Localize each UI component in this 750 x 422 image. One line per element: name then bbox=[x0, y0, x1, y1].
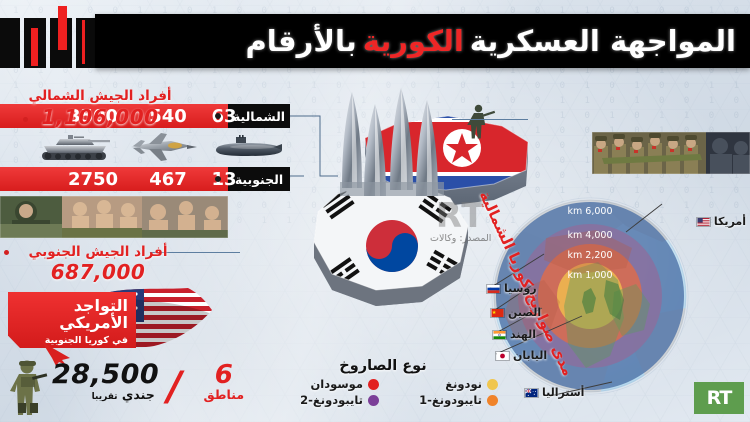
missile-type-legend: نوع الصاروخ نودونغ موسودان تايبودونغ-1 ت… bbox=[268, 358, 498, 416]
south-army-personnel: أفراد الجيش الجنوبي 687,000 bbox=[8, 244, 188, 284]
legend-label-nodong: نودونغ bbox=[445, 377, 482, 391]
north-subs-value: 63 bbox=[200, 106, 248, 127]
country-label-usa: أمريكا bbox=[696, 215, 746, 228]
north-army-value: 1,106,000 bbox=[10, 105, 190, 129]
bases-value: 6 bbox=[188, 362, 260, 388]
legend-label-musudan: موسودان bbox=[310, 377, 363, 391]
rt-logo-text: RT bbox=[707, 387, 732, 409]
country-name-china: الصين bbox=[508, 306, 541, 319]
soldier-figure-icon bbox=[8, 359, 48, 415]
north-korean-soldiers-photo bbox=[592, 132, 750, 174]
legend-item-nodong: نودونغ bbox=[387, 377, 498, 391]
troops-value: 28,500 bbox=[52, 361, 159, 389]
title-part-one: المواجهة العسكرية bbox=[470, 24, 736, 58]
troops-approx: تقريبا bbox=[92, 392, 118, 402]
legend-items-grid: نودونغ موسودان تايبودونغ-1 تايبودونغ-2 bbox=[268, 377, 498, 407]
legend-dot-taepodong-1 bbox=[487, 395, 498, 406]
country-name-usa: أمريكا bbox=[714, 215, 746, 228]
legend-label-taepodong-1: تايبودونغ-1 bbox=[419, 393, 482, 407]
stats-separator: / bbox=[167, 367, 182, 407]
legend-dot-musudan bbox=[368, 379, 379, 390]
us-presence-line1: التواجد bbox=[18, 297, 128, 314]
legend-title: نوع الصاروخ bbox=[268, 358, 498, 374]
legend-item-musudan: موسودان bbox=[268, 377, 379, 391]
south-army-label: أفراد الجيش الجنوبي bbox=[8, 244, 188, 260]
country-name-russia: روسيا bbox=[504, 282, 537, 295]
tank-icon bbox=[38, 133, 112, 163]
troops-unit-line: جندي تقريبا bbox=[87, 387, 159, 413]
country-name-australia: أستراليا bbox=[542, 386, 584, 399]
legend-label-taepodong-2: تايبودونغ-2 bbox=[300, 393, 363, 407]
troops-unit: جندي bbox=[122, 387, 155, 402]
south-subs-value: 13 bbox=[200, 169, 248, 190]
australia-flag-icon bbox=[524, 388, 539, 398]
us-presence-line2: الأمريكي bbox=[18, 314, 128, 331]
title-part-two: بالأرقام bbox=[246, 24, 357, 58]
submarine-icon bbox=[212, 135, 284, 161]
north-army-label: أفراد الجيش الشمالي bbox=[10, 88, 190, 104]
russia-flag-icon bbox=[486, 284, 501, 294]
range-label-4000: 4,000 km bbox=[568, 230, 613, 241]
bases-unit: مناطق bbox=[188, 387, 260, 413]
page-title: المواجهة العسكرية الكورية بالأرقام bbox=[246, 16, 736, 66]
country-label-india: الهند bbox=[492, 328, 536, 341]
country-name-india: الهند bbox=[510, 328, 536, 341]
usa-flag-icon bbox=[696, 217, 711, 227]
south-tanks-value: 2750 bbox=[58, 169, 128, 190]
range-label-6000: 6,000 km bbox=[568, 206, 613, 217]
south-korean-soldiers-photo bbox=[0, 196, 228, 238]
legend-item-taepodong-2: تايبودونغ-2 bbox=[268, 393, 379, 407]
bases-count-block: 6 مناطق bbox=[188, 362, 260, 413]
china-flag-icon bbox=[490, 308, 505, 318]
infographic-canvas: 0 1 0 0 1 0 1 1 0 0 1 0 1 0 0 1 1 0 1 0 … bbox=[0, 0, 750, 422]
country-label-japan: اليابان bbox=[495, 349, 547, 362]
country-label-russia: روسيا bbox=[486, 282, 537, 295]
rt-logo: RT bbox=[694, 382, 744, 414]
country-name-japan: اليابان bbox=[513, 349, 547, 362]
comparison-band-south: 2750 467 13 bbox=[0, 167, 228, 191]
north-army-personnel: أفراد الجيش الشمالي 1,106,000 bbox=[10, 88, 190, 129]
fighter-jet-icon bbox=[127, 131, 197, 165]
country-label-australia: أستراليا bbox=[524, 386, 584, 399]
comparison-row-south: الجنوبية 2750 467 13 bbox=[0, 167, 290, 191]
legend-item-taepodong-1: تايبودونغ-1 bbox=[387, 393, 498, 407]
south-army-value: 687,000 bbox=[8, 260, 188, 284]
range-label-1000: 1,000 km bbox=[568, 270, 613, 281]
us-troops-stats: 28,500 جندي تقريبا / 6 مناطق bbox=[8, 358, 228, 416]
title-accent-word: الكورية bbox=[363, 24, 464, 58]
troops-count-block: 28,500 جندي تقريبا bbox=[52, 361, 159, 413]
header-banner: المواجهة العسكرية الكورية بالأرقام bbox=[0, 14, 750, 68]
legend-dot-nodong bbox=[487, 379, 498, 390]
legend-dot-taepodong-2 bbox=[368, 395, 379, 406]
south-jets-value: 467 bbox=[138, 169, 198, 190]
country-label-china: الصين bbox=[490, 306, 541, 319]
comparison-equipment-icons bbox=[30, 130, 292, 166]
comparison-leader-lines bbox=[286, 110, 346, 190]
india-flag-icon bbox=[492, 330, 507, 340]
range-label-2200: 2,200 km bbox=[568, 250, 613, 261]
